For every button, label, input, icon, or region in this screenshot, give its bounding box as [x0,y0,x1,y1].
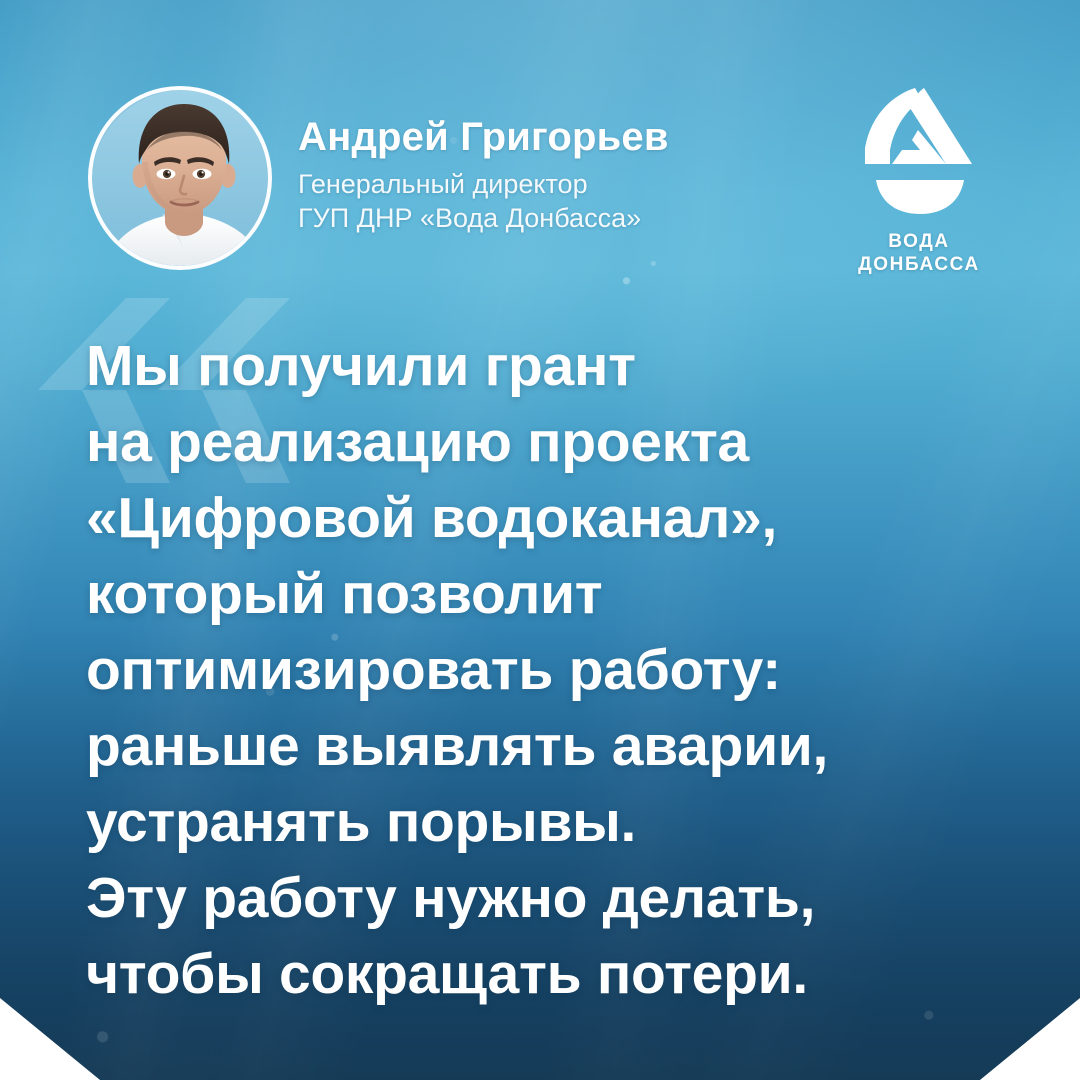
quote-line: чтобы сокращать потери. [86,936,986,1012]
quote-line: устранять порывы. [86,784,986,860]
brand-logo-text: ВОДА ДОНБАССА [858,230,980,276]
person-name: Андрей Григорьев [298,116,669,159]
person-role-line2: ГУП ДНР «Вода Донбасса» [298,201,669,236]
brand-logo-line2: ДОНБАССА [858,253,980,276]
person-role-line1: Генеральный директор [298,167,669,202]
person-info: Андрей Григорьев Генеральный директор ГУ… [298,116,669,239]
quote-line: «Цифровой водоканал», [86,480,986,556]
quote-line: раньше выявлять аварии, [86,708,986,784]
voda-donbassa-logo-icon [854,84,984,224]
quote-line: Эту работу нужно делать, [86,860,986,936]
avatar-photo [92,90,268,266]
brand-logo: ВОДА ДОНБАССА [830,84,1008,276]
quote-card: Андрей Григорьев Генеральный директор ГУ… [0,0,1080,1080]
speaker-header: Андрей Григорьев Генеральный директор ГУ… [88,86,669,270]
quote-text: Мы получили грант на реализацию проекта … [86,328,986,1012]
quote-line: на реализацию проекта [86,404,986,480]
avatar [88,86,272,270]
brand-logo-line1: ВОДА [858,230,980,253]
quote-line: оптимизировать работу: [86,632,986,708]
quote-line: который позволит [86,556,986,632]
person-role: Генеральный директор ГУП ДНР «Вода Донба… [298,167,669,236]
quote-line: Мы получили грант [86,328,986,404]
